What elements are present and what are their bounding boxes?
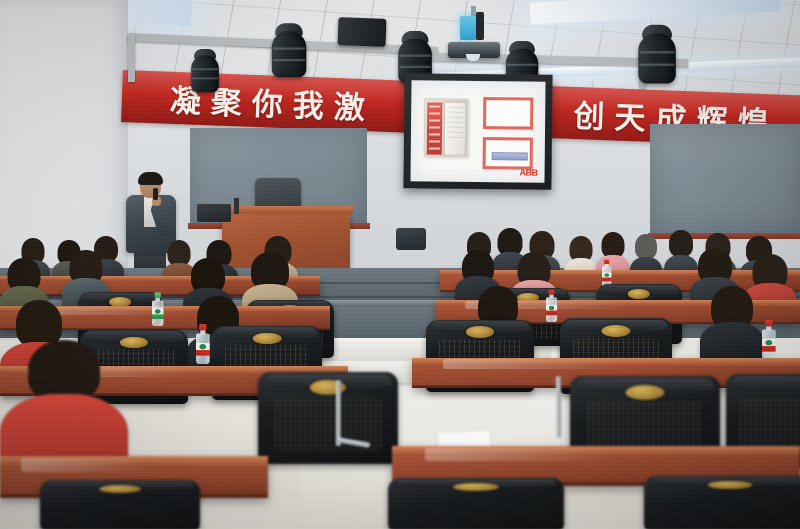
- stage-light-rib: [273, 59, 305, 61]
- wall-panel-right: [650, 124, 800, 234]
- projection-screen-surface: ABB: [410, 80, 545, 182]
- stage-light-body: [191, 55, 219, 92]
- chair-medallion: [626, 385, 665, 400]
- person-head: [28, 340, 100, 402]
- stage-light-rib: [399, 55, 430, 57]
- slide-box-top: [483, 97, 533, 130]
- stage-light-rib: [192, 78, 218, 80]
- chair-medallion: [466, 326, 494, 338]
- ceiling-projector: [440, 6, 506, 68]
- projection-screen: ABB: [403, 73, 552, 190]
- speaker-box: [338, 17, 387, 47]
- stage-equipment-left: [197, 204, 231, 222]
- stage-light-rib: [640, 51, 675, 54]
- bottle-label: [196, 343, 210, 356]
- presenter-hair: [138, 172, 163, 185]
- projector-dark-module: [476, 12, 484, 40]
- water-bottle: [602, 260, 611, 287]
- slide-box-bottom: [483, 137, 533, 170]
- chair-medallion: [453, 483, 499, 491]
- stage-light-rib: [507, 64, 537, 66]
- chair-medallion: [253, 333, 282, 345]
- bottle-label: [602, 273, 611, 282]
- stage-equipment-right: [396, 228, 426, 250]
- stage-light-1: [269, 22, 308, 82]
- chair: [40, 480, 200, 529]
- bottle-label: [152, 308, 163, 319]
- cabinet-inner-door: [444, 102, 467, 156]
- stage-light-rib: [273, 47, 305, 49]
- water-bottle: [762, 320, 776, 360]
- cabinet-door-panel: [427, 102, 443, 154]
- desk-gloss: [425, 448, 613, 462]
- water-bottle: [152, 293, 163, 326]
- chair: [644, 476, 800, 529]
- slide-box-bar: [492, 152, 528, 160]
- projector-blue-module: [460, 16, 477, 40]
- bottle-label: [762, 339, 776, 352]
- projector-lens: [466, 54, 480, 61]
- lectern-microphone: [234, 198, 239, 214]
- chair-rim: [731, 376, 800, 391]
- conference-room-photo: 凝聚你我激 创天成辉煌: [0, 0, 800, 529]
- stage-light-rib: [640, 64, 675, 67]
- desk-gloss: [21, 458, 144, 472]
- person-head: [635, 234, 657, 259]
- chair: [388, 478, 564, 529]
- stage-light-body: [638, 34, 676, 84]
- chair-medallion: [99, 485, 141, 493]
- stage-light-rib: [192, 68, 218, 70]
- water-bottle: [546, 290, 557, 322]
- bottle-label: [546, 305, 557, 315]
- chair: [258, 372, 398, 464]
- stage-light-5: [189, 48, 220, 96]
- chair-medallion: [628, 289, 650, 299]
- audience-person: [700, 286, 764, 366]
- water-bottle: [196, 324, 210, 364]
- chair-medallion: [601, 325, 630, 337]
- chair-medallion: [708, 481, 753, 490]
- chair-chrome-frame: [336, 380, 341, 446]
- handheld-microphone: [153, 188, 158, 200]
- stage-light-4: [636, 24, 679, 89]
- abb-logo: ABB: [520, 167, 538, 177]
- slide-cabinet-photo: [424, 98, 469, 156]
- stage-light-body: [272, 31, 307, 77]
- chair-chrome-frame: [556, 376, 561, 438]
- truss-drop-rod: [128, 34, 135, 82]
- stage-light-rib: [399, 66, 430, 68]
- desk-gloss: [443, 359, 621, 369]
